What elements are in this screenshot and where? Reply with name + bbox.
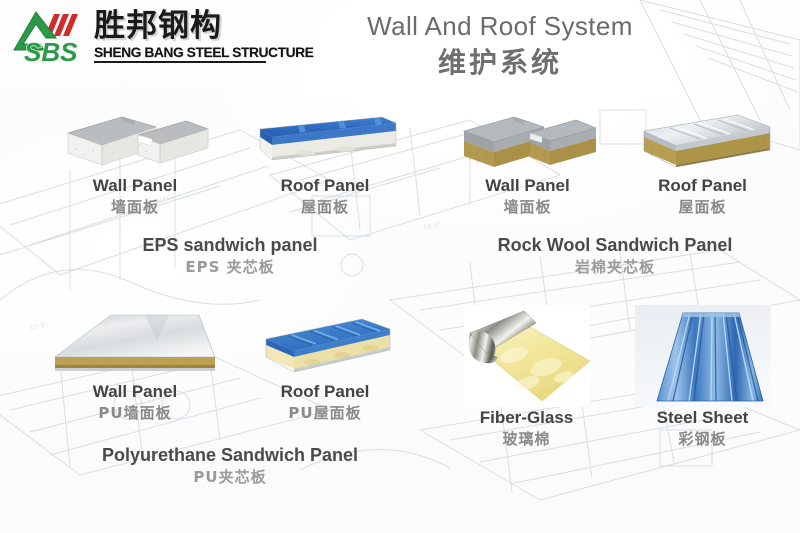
group-label-en: Rock Wool Sandwich Panel (440, 233, 790, 257)
product-pu-roof-panel[interactable]: Roof Panel PU屋面板 (230, 305, 420, 424)
eps-wall-panel-image (60, 105, 210, 175)
product-label-cn: 墙面板 (40, 197, 230, 218)
rock-wool-roof-panel-image (630, 105, 775, 175)
product-label-cn: 彩钢板 (620, 429, 785, 450)
section-other-materials: Fiber-Glass 玻璃棉 (440, 305, 790, 505)
product-label-cn: PU墙面板 (40, 403, 230, 424)
product-pu-wall-panel[interactable]: Wall Panel PU墙面板 (40, 305, 230, 424)
product-rock-wool-wall-panel[interactable]: Wall Panel 墙面板 (440, 105, 615, 218)
product-label-en: Steel Sheet (620, 407, 785, 429)
product-label-en: Roof Panel (230, 175, 420, 197)
page-title-cn: 维护系统 (300, 46, 700, 80)
product-fiber-glass[interactable]: Fiber-Glass 玻璃棉 (444, 305, 609, 450)
section-polyurethane-sandwich-panel: Wall Panel PU墙面板 (40, 305, 420, 505)
fiber-glass-roll-image (464, 305, 590, 407)
product-label-en: Wall Panel (40, 381, 230, 403)
page-title-en: Wall And Roof System (300, 10, 700, 42)
product-label-cn: 墙面板 (440, 197, 615, 218)
product-rock-wool-roof-panel[interactable]: Roof Panel 屋面板 (615, 105, 790, 218)
product-label-cn: PU屋面板 (230, 403, 420, 424)
product-label-cn: 屋面板 (230, 197, 420, 218)
eps-roof-panel-image (250, 105, 400, 175)
logo-company-name-en: SHENG BANG STEEL STRUCTURE (94, 45, 313, 60)
product-label-en: Roof Panel (615, 175, 790, 197)
svg-text:SBS: SBS (24, 37, 78, 67)
pu-roof-panel-image (250, 305, 400, 381)
logo-underline (94, 61, 266, 63)
product-eps-wall-panel[interactable]: Wall Panel 墙面板 (40, 105, 230, 218)
product-eps-roof-panel[interactable]: Roof Panel 屋面板 (230, 105, 420, 218)
group-label-en: EPS sandwich panel (40, 233, 420, 257)
product-label-en: Fiber-Glass (444, 407, 609, 429)
pu-wall-panel-image (49, 305, 221, 381)
company-logo[interactable]: SBS 胜邦钢构 SHENG BANG STEEL STRUCTURE (8, 4, 270, 70)
product-label-cn: 玻璃棉 (444, 429, 609, 450)
product-label-en: Wall Panel (40, 175, 230, 197)
rock-wool-wall-panel-image (458, 105, 598, 175)
logo-company-name-cn: 胜邦钢构 (94, 10, 222, 43)
sbs-mountain-logo-icon: SBS (10, 6, 88, 68)
product-label-en: Roof Panel (230, 381, 420, 403)
section-rock-wool-sandwich-panel: Wall Panel 墙面板 (440, 105, 790, 285)
group-label-cn: EPS 夹芯板 (40, 257, 420, 278)
section-eps-sandwich-panel: Wall Panel 墙面板 (40, 105, 420, 285)
group-label-en: Polyurethane Sandwich Panel (40, 443, 420, 467)
product-steel-sheet[interactable]: Steel Sheet 彩钢板 (620, 305, 785, 450)
product-label-en: Wall Panel (440, 175, 615, 197)
group-label-cn: 岩棉夹芯板 (440, 257, 790, 278)
product-label-cn: 屋面板 (615, 197, 790, 218)
steel-sheet-image (635, 305, 771, 407)
group-label-cn: PU夹芯板 (40, 467, 420, 488)
page-header: SBS 胜邦钢构 SHENG BANG STEEL STRUCTURE Wall… (0, 0, 800, 105)
